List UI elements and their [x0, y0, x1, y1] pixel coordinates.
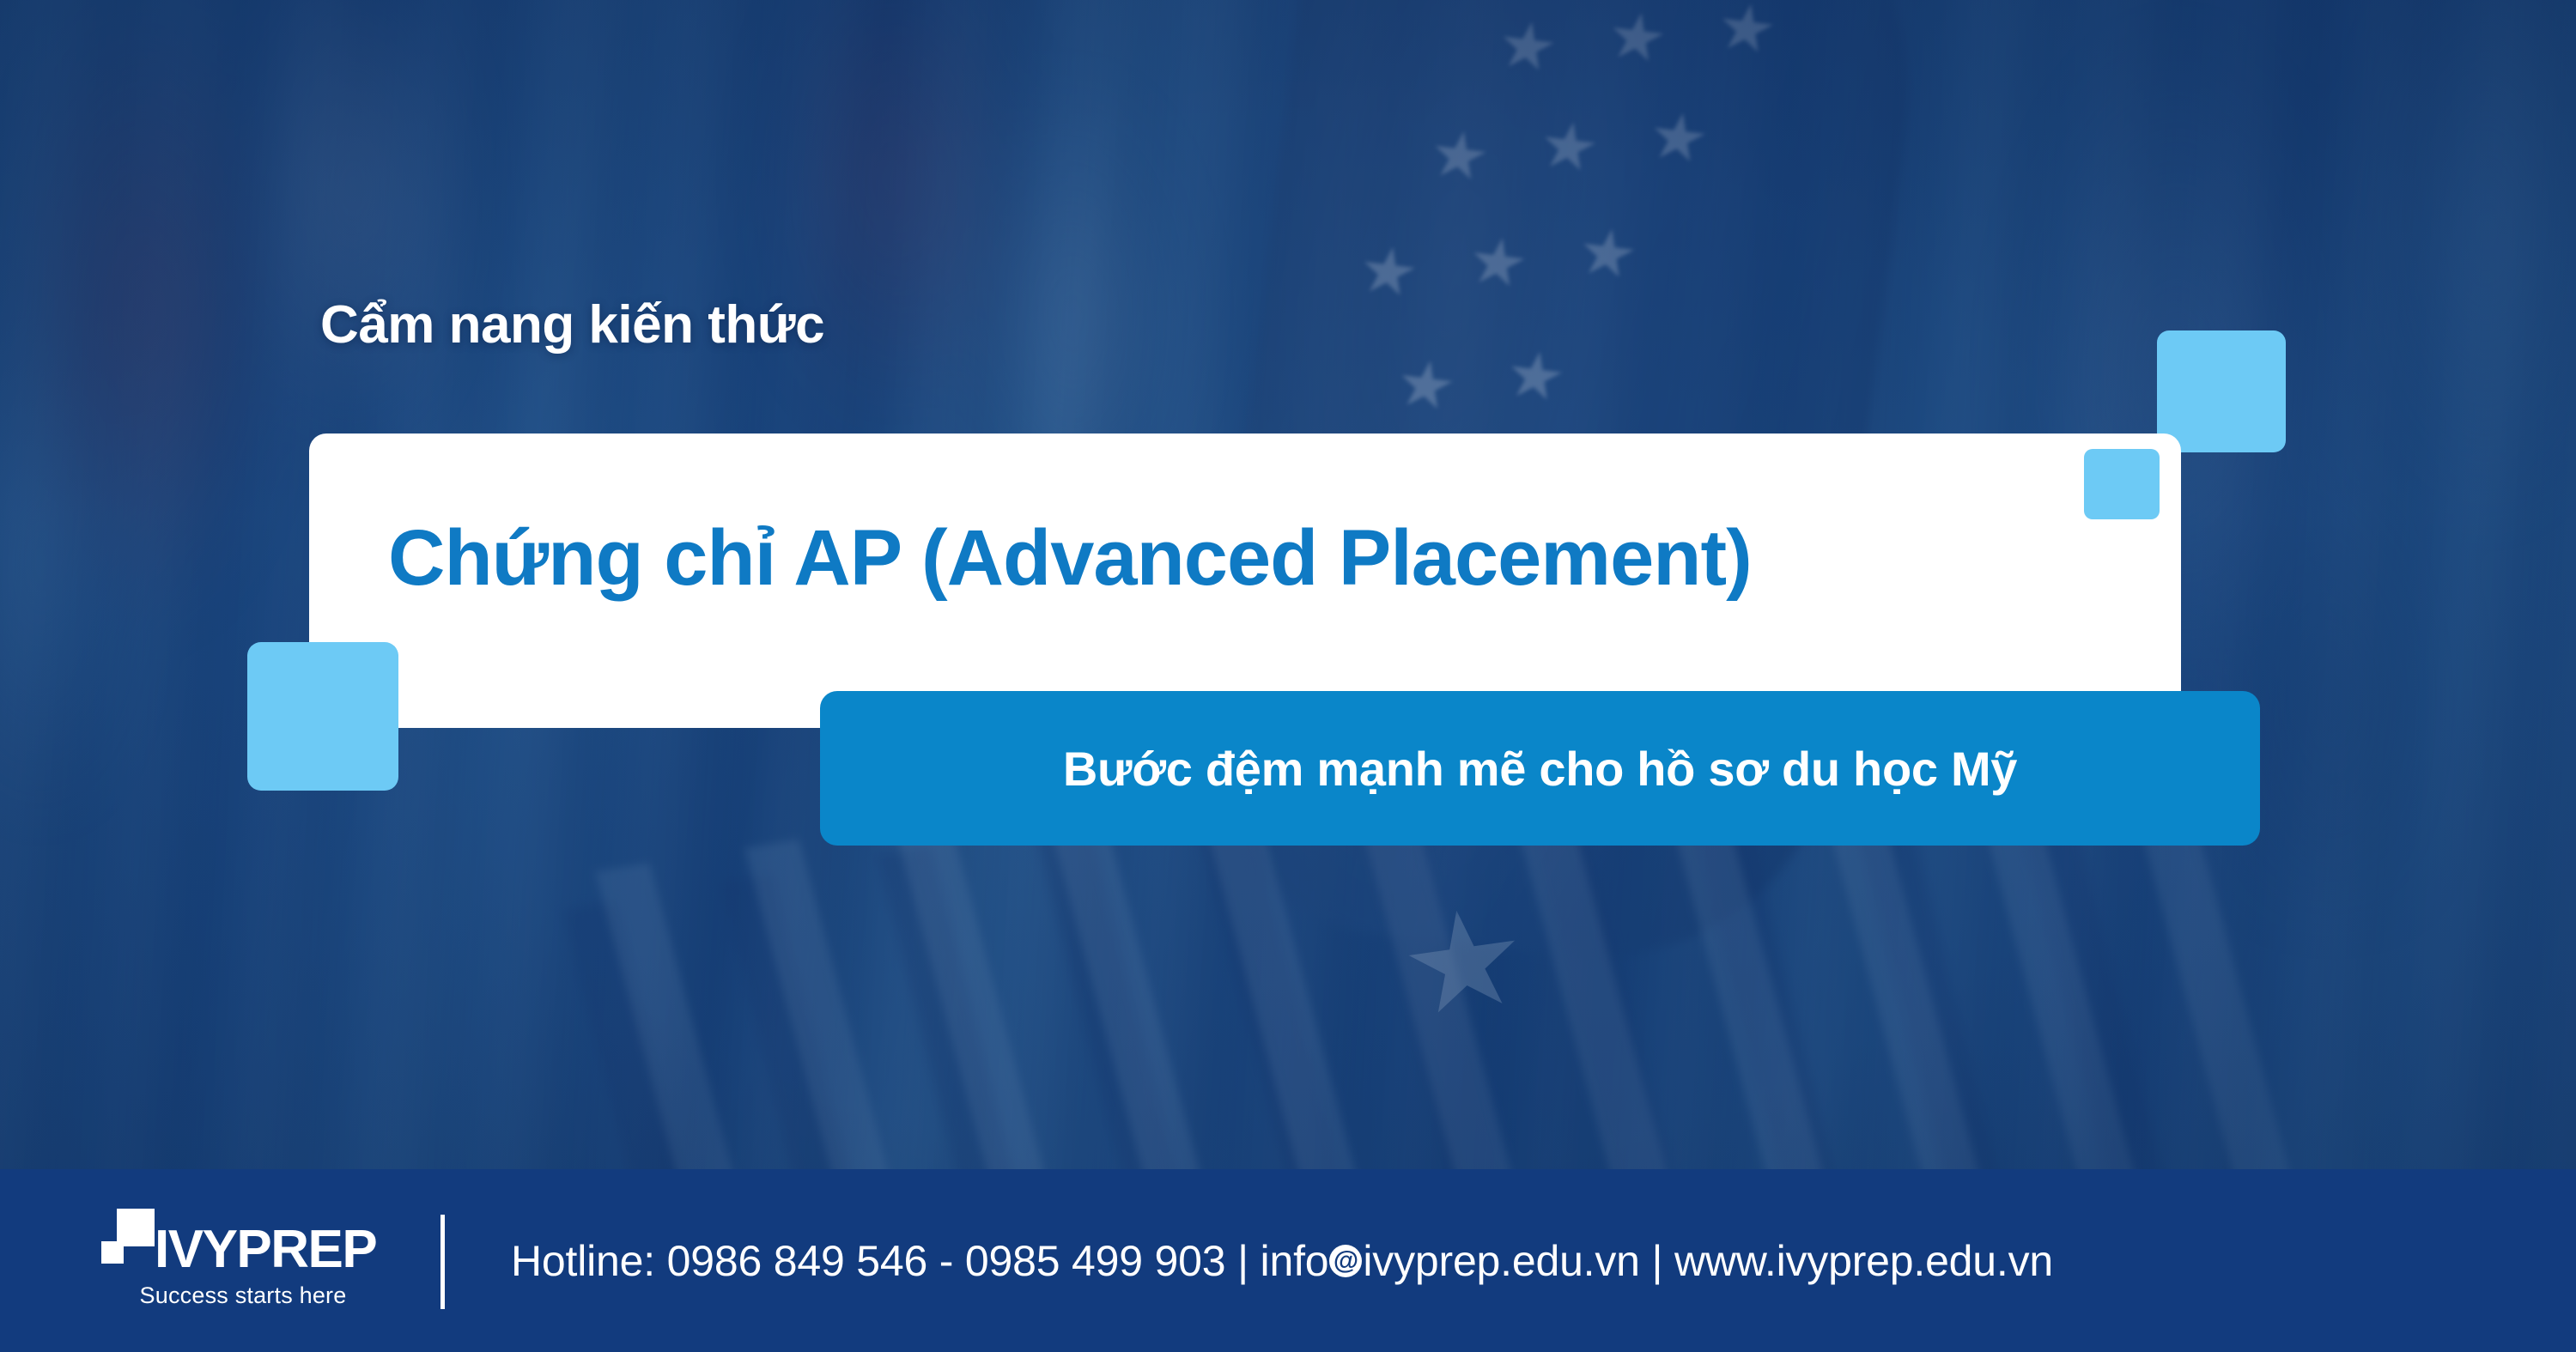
footer-contact-info: Hotline: 0986 849 546 - 0985 499 903 | i… — [511, 1169, 2053, 1352]
footer-contact-prefix: Hotline: 0986 849 546 - 0985 499 903 | i… — [511, 1236, 1328, 1286]
page-title: Chứng chỉ AP (Advanced Placement) — [388, 515, 2183, 602]
footer-contact-suffix: ivyprep.edu.vn | www.ivyprep.edu.vn — [1363, 1236, 2053, 1286]
promo-banner: Cẩm nang kiến thức Chứng chỉ AP (Advance… — [0, 0, 2576, 1352]
brand-logo: IVYPREP Success starts here — [101, 1205, 385, 1309]
at-sign-icon: @ — [1329, 1245, 1362, 1277]
logo-row: IVYPREP — [101, 1205, 385, 1272]
brand-tagline: Success starts here — [101, 1282, 385, 1309]
logo-square-small-icon — [101, 1241, 124, 1264]
ivyprep-squares-icon — [101, 1209, 158, 1272]
accent-square-small-right — [2084, 449, 2160, 519]
eyebrow-label: Cẩm nang kiến thức — [320, 299, 824, 352]
brand-wordmark: IVYPREP — [155, 1228, 376, 1272]
subtitle-label: Bước đệm mạnh mẽ cho hồ sơ du học Mỹ — [820, 691, 2260, 846]
accent-square-left — [247, 642, 398, 791]
accent-square-top-right — [2157, 330, 2286, 452]
footer-divider — [440, 1215, 445, 1309]
